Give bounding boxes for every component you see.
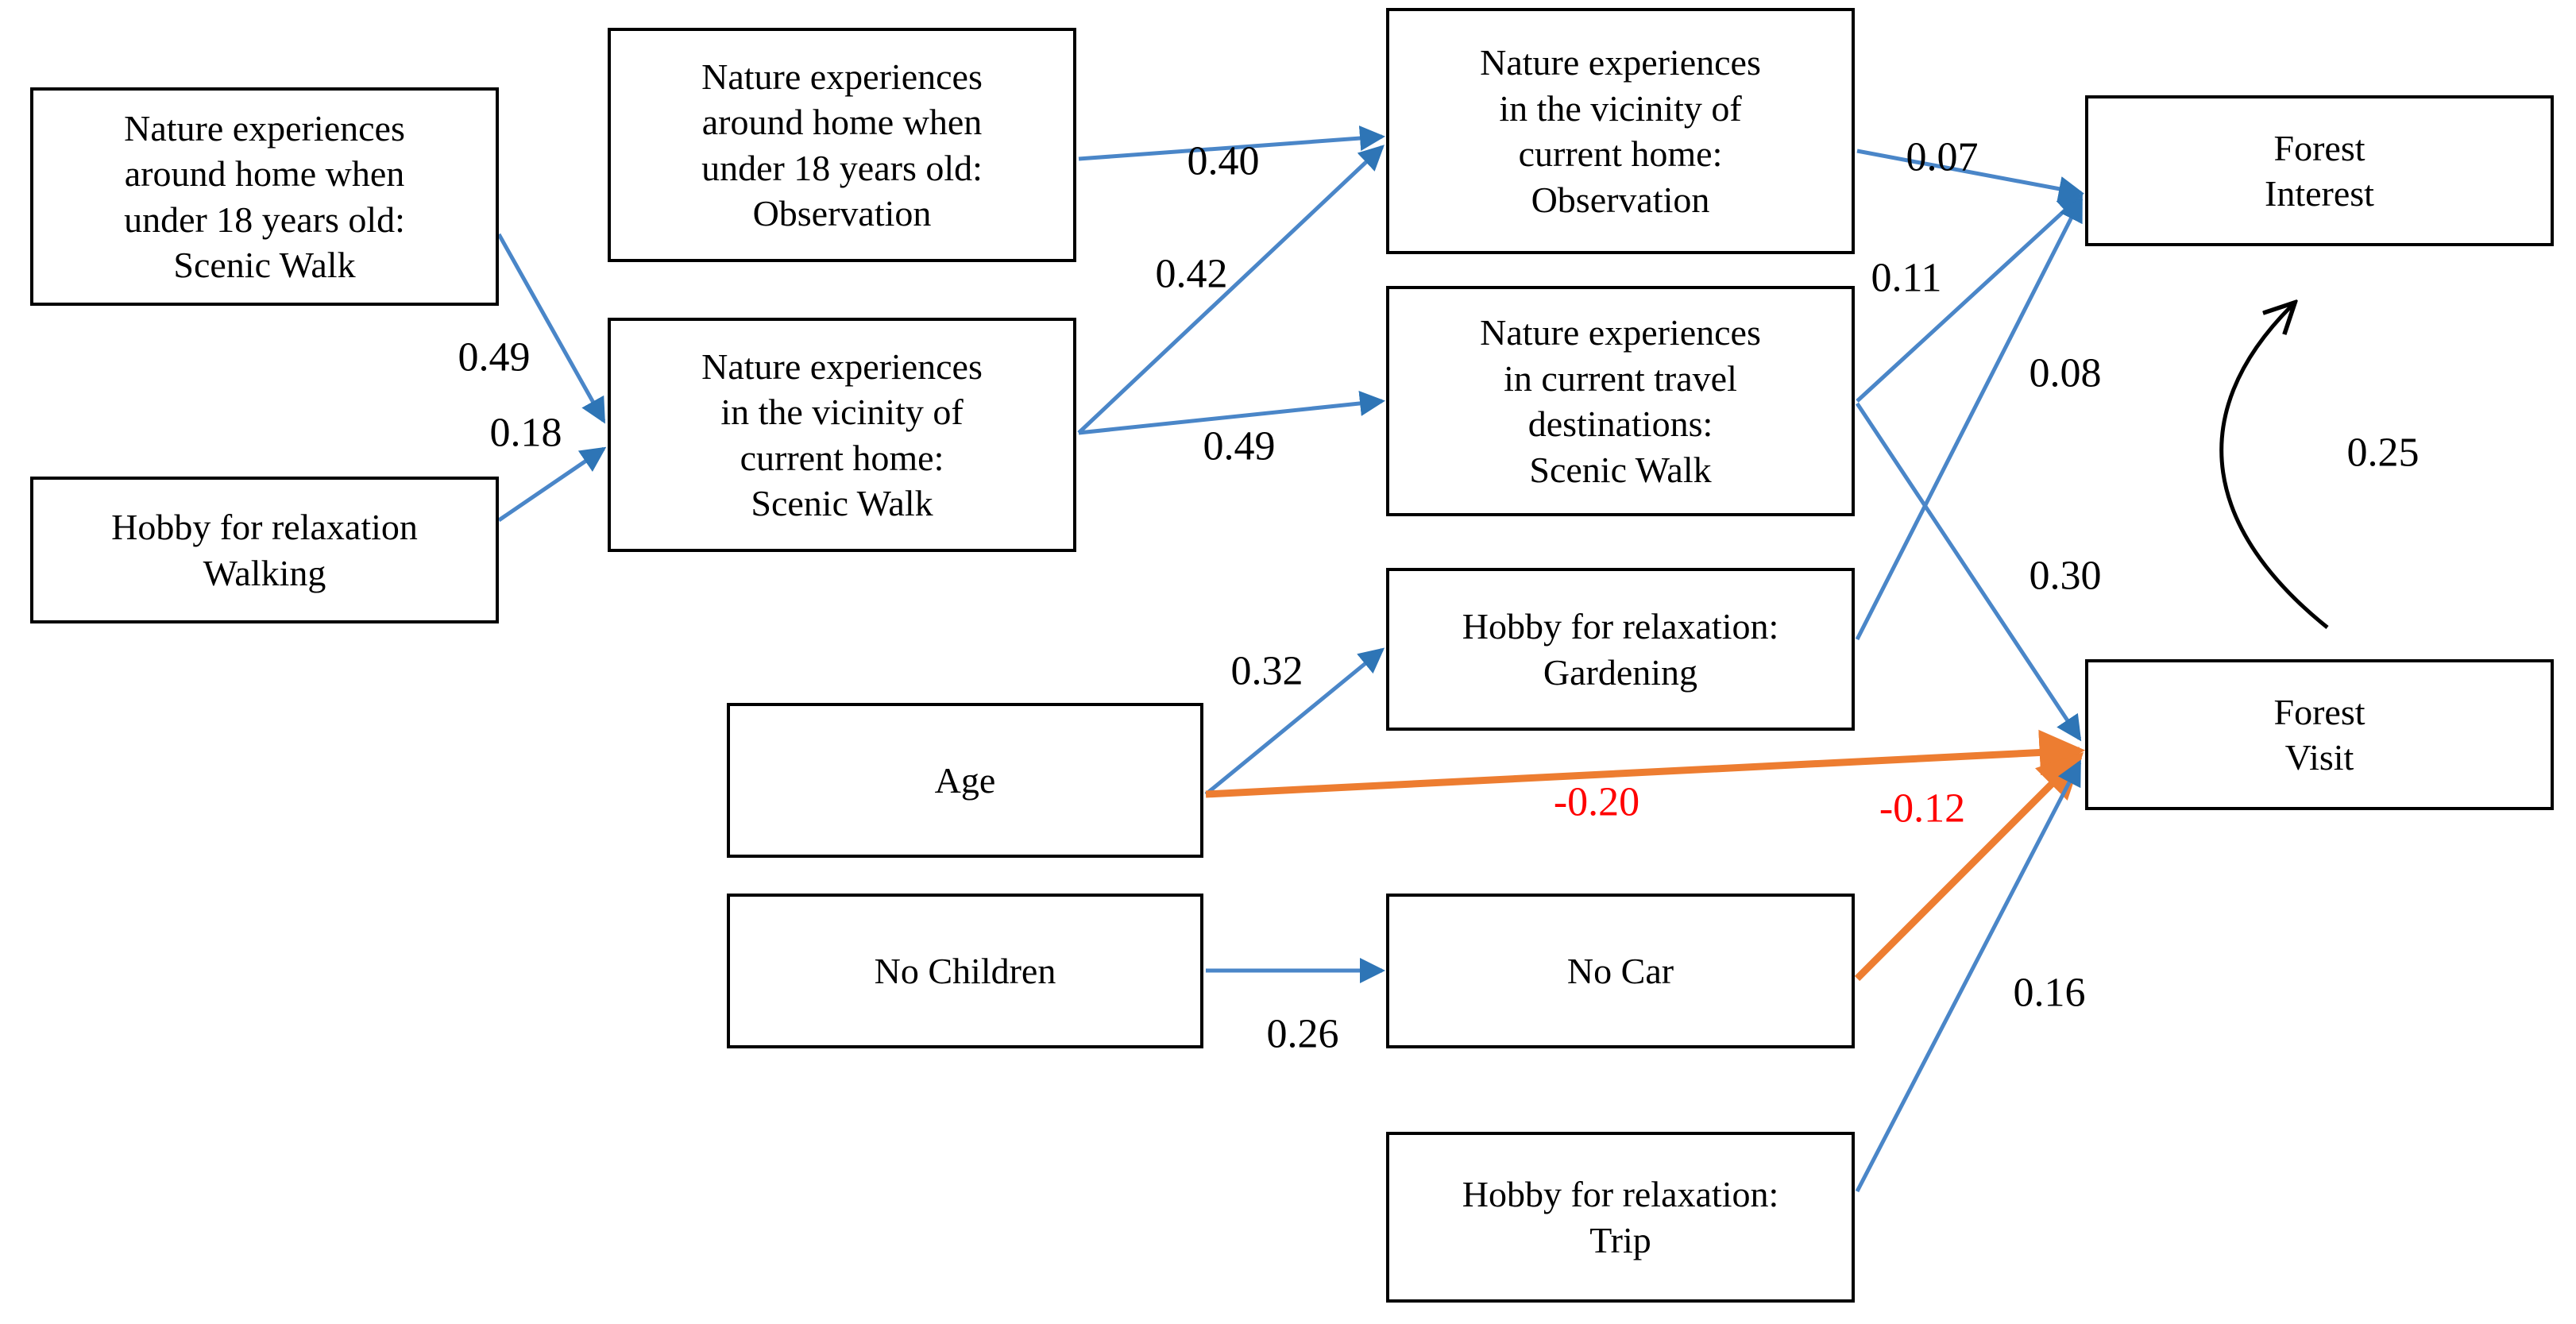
edge-coefficient-label: 0.40 xyxy=(1188,138,1260,185)
edge-coefficient-label: 0.11 xyxy=(1871,255,1941,302)
node-no_car[interactable]: No Car xyxy=(1386,894,1855,1048)
node-travel_walk[interactable]: Nature experiences in current travel des… xyxy=(1386,286,1855,516)
edge-coefficient-label: 0.26 xyxy=(1267,1011,1339,1058)
node-forest_visit[interactable]: Forest Visit xyxy=(2085,659,2554,810)
node-home_child_walk[interactable]: Nature experiences around home when unde… xyxy=(30,87,499,306)
node-hobby_garden[interactable]: Hobby for relaxation: Gardening xyxy=(1386,568,1855,731)
edge-coefficient-label: 0.42 xyxy=(1156,251,1228,298)
edge-forest_visit-to-forest_interest xyxy=(2222,306,2327,627)
node-label: Nature experiences around home when unde… xyxy=(701,54,983,237)
node-label: No Car xyxy=(1567,948,1674,994)
edge-coefficient-label: 0.32 xyxy=(1231,648,1303,695)
node-home_child_obs[interactable]: Nature experiences around home when unde… xyxy=(608,28,1076,262)
node-label: Nature experiences around home when unde… xyxy=(124,106,405,288)
edge-coefficient-label: 0.25 xyxy=(2347,430,2420,477)
node-no_children[interactable]: No Children xyxy=(727,894,1203,1048)
node-age[interactable]: Age xyxy=(727,703,1203,858)
node-forest_interest[interactable]: Forest Interest xyxy=(2085,95,2554,246)
node-vicinity_walk[interactable]: Nature experiences in the vicinity of cu… xyxy=(608,318,1076,552)
edge-coefficient-label: 0.49 xyxy=(458,334,531,381)
node-hobby_trip[interactable]: Hobby for relaxation: Trip xyxy=(1386,1132,1855,1303)
node-label: Nature experiences in the vicinity of cu… xyxy=(1480,40,1761,222)
node-label: Forest Interest xyxy=(2265,125,2374,217)
node-label: Hobby for relaxation: Gardening xyxy=(1462,604,1779,695)
edge-coefficient-label: 0.08 xyxy=(2030,350,2102,397)
node-label: Hobby for relaxation Walking xyxy=(111,504,418,596)
path-diagram: Nature experiences around home when unde… xyxy=(0,0,2576,1324)
edge-coefficient-label: 0.16 xyxy=(2014,970,2086,1017)
edge-coefficient-label: -0.20 xyxy=(1554,779,1639,826)
edge-coefficient-label: 0.07 xyxy=(1906,134,1979,181)
edge-home_child_walk-to-vicinity_walk xyxy=(499,234,604,421)
node-label: Hobby for relaxation: Trip xyxy=(1462,1172,1779,1263)
node-vicinity_obs[interactable]: Nature experiences in the vicinity of cu… xyxy=(1386,8,1855,254)
node-label: Age xyxy=(935,758,996,804)
edge-coefficient-label: 0.18 xyxy=(490,410,562,457)
node-label: Nature experiences in current travel des… xyxy=(1480,310,1761,492)
node-hobby_walking[interactable]: Hobby for relaxation Walking xyxy=(30,477,499,623)
node-label: Nature experiences in the vicinity of cu… xyxy=(701,344,983,527)
node-label: No Children xyxy=(875,948,1056,994)
edge-hobby_walking-to-vicinity_walk xyxy=(499,449,604,520)
edge-coefficient-label: -0.12 xyxy=(1879,786,1965,832)
node-label: Forest Visit xyxy=(2274,689,2366,781)
edge-coefficient-label: 0.30 xyxy=(2030,553,2102,600)
edge-coefficient-label: 0.49 xyxy=(1203,423,1276,470)
edge-vicinity_walk-to-vicinity_obs xyxy=(1079,147,1382,433)
